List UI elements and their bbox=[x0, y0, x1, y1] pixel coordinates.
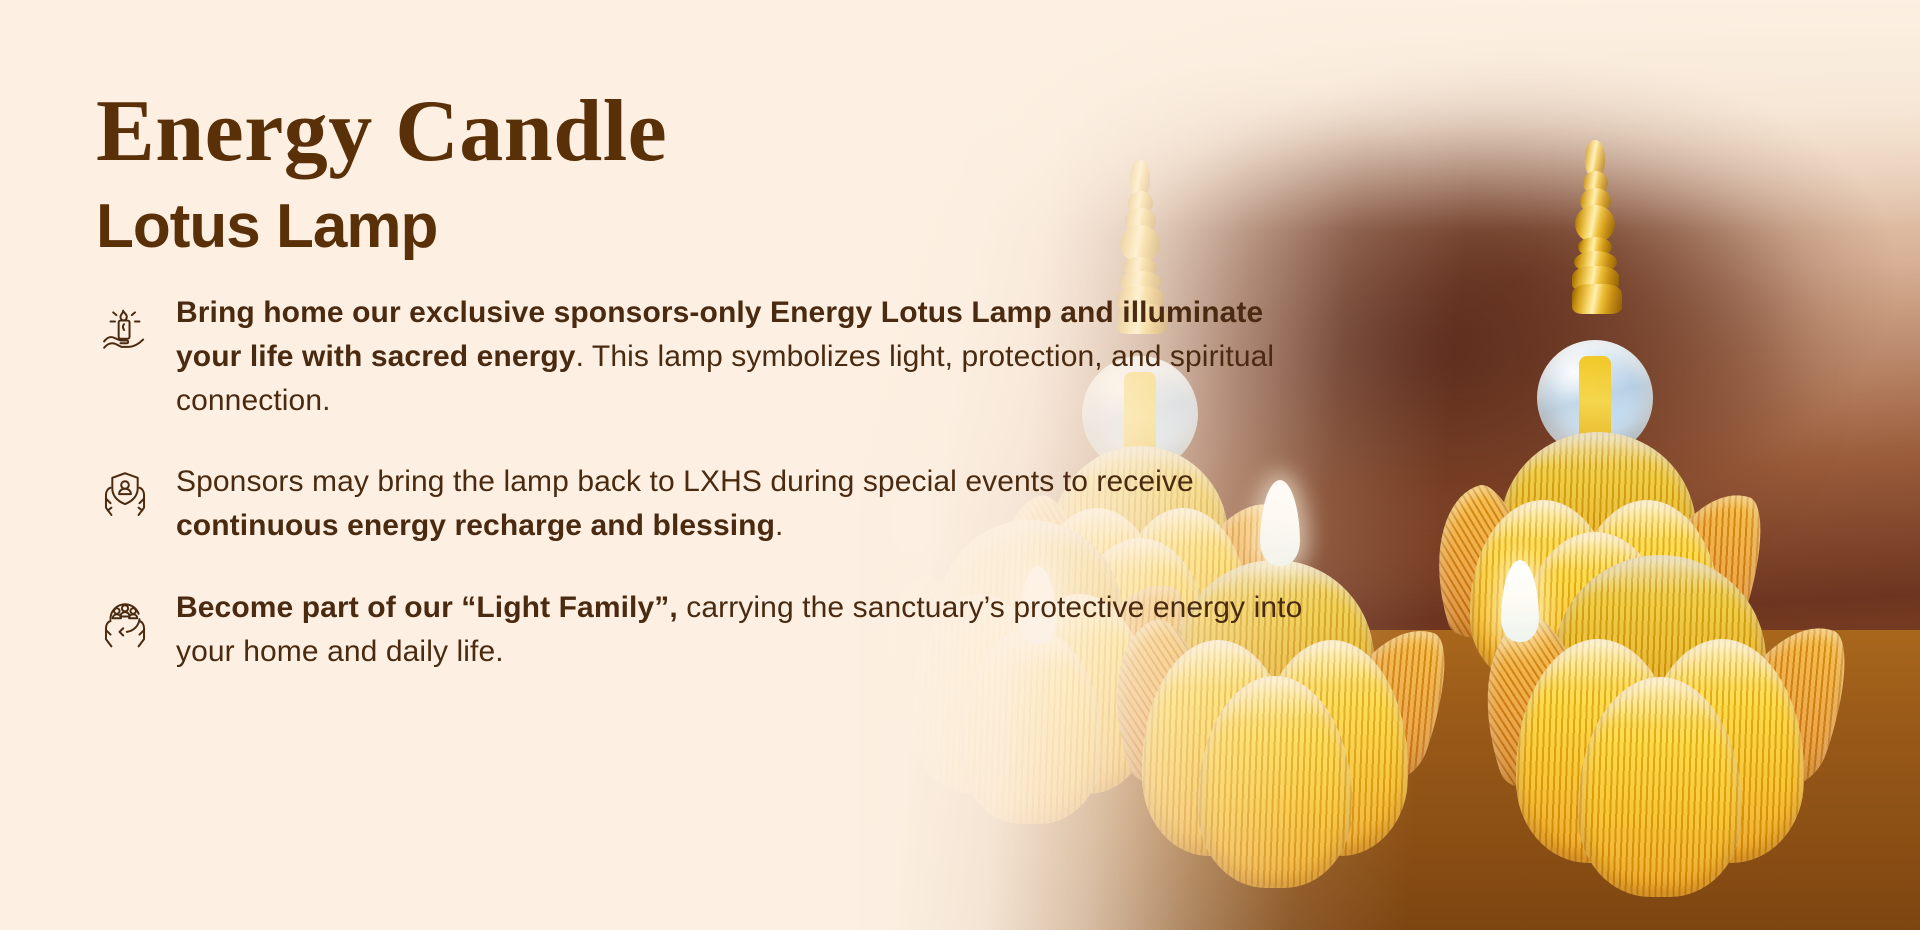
hands-holding-shield-person-icon bbox=[96, 466, 154, 524]
list-item-bold: Become part of our “Light Family”, bbox=[176, 591, 678, 624]
list-item-bold: continuous energy recharge and blessing bbox=[176, 509, 775, 542]
list-item: Bring home our exclusive sponsors-only E… bbox=[96, 291, 1316, 422]
hands-holding-community-recycle-icon bbox=[96, 592, 154, 650]
list-item: Sponsors may bring the lamp back to LXHS… bbox=[96, 460, 1316, 548]
list-item: Become part of our “Light Family”, carry… bbox=[96, 586, 1316, 674]
list-item-pre: Sponsors may bring the lamp back to LXHS… bbox=[176, 465, 1194, 498]
page-subtitle: Lotus Lamp bbox=[96, 194, 1316, 259]
list-item-text: Become part of our “Light Family”, carry… bbox=[176, 586, 1306, 674]
banner-content: Energy Candle Lotus Lamp Bring home ou bbox=[96, 0, 1316, 930]
page-title: Energy Candle bbox=[96, 0, 1316, 176]
list-item-text: Sponsors may bring the lamp back to LXHS… bbox=[176, 460, 1306, 548]
list-item-text: Bring home our exclusive sponsors-only E… bbox=[176, 291, 1306, 422]
energy-candle-banner: Energy Candle Lotus Lamp Bring home ou bbox=[0, 0, 1920, 930]
hand-holding-candle-icon bbox=[96, 297, 154, 355]
list-item-rest: . bbox=[775, 509, 783, 542]
feature-list: Bring home our exclusive sponsors-only E… bbox=[96, 291, 1316, 674]
